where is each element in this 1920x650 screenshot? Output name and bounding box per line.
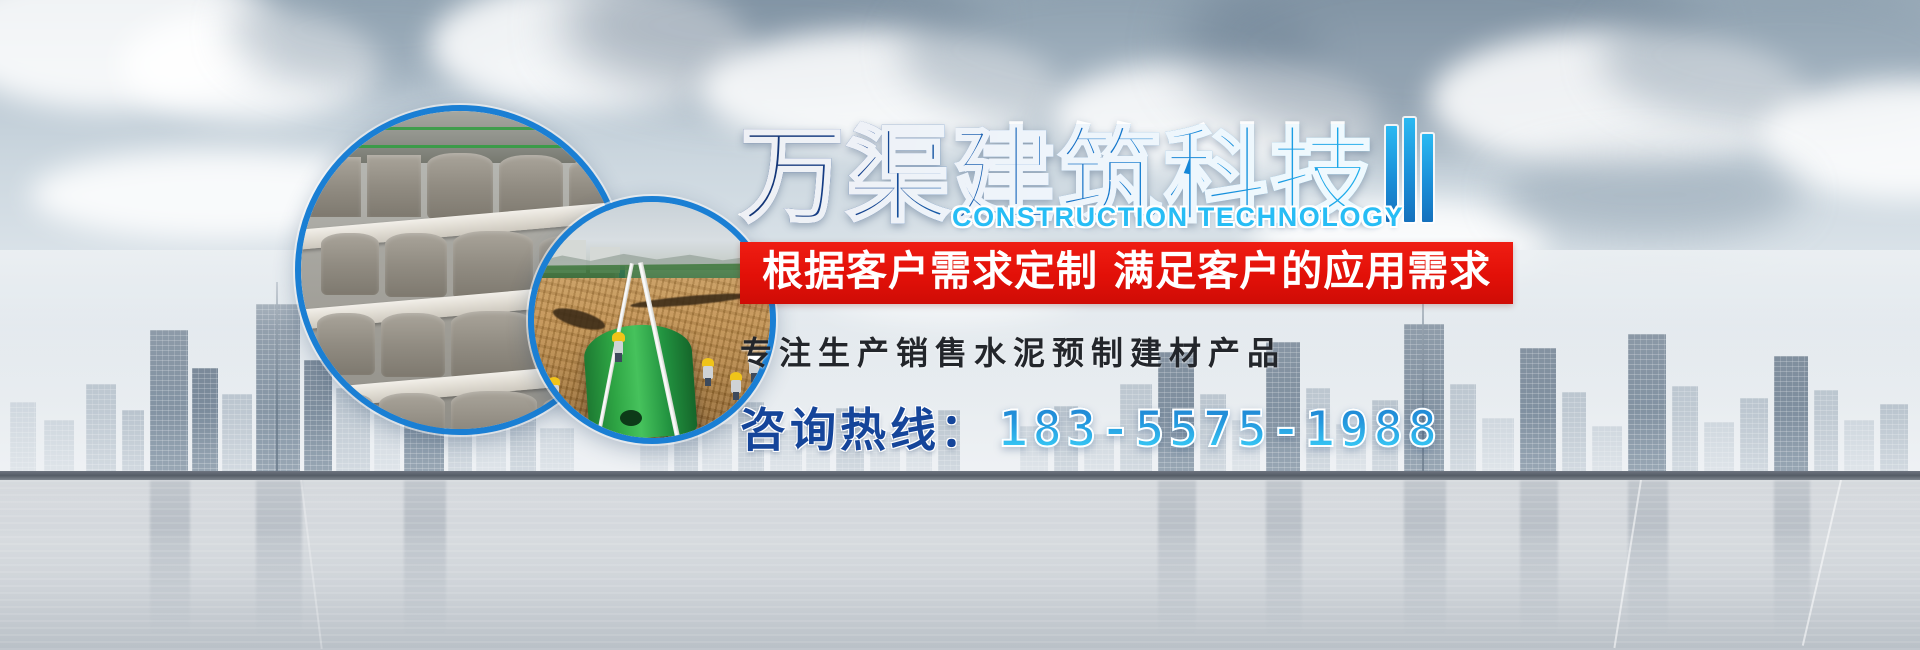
- hotline-label: 咨询热线：: [740, 394, 990, 460]
- brand-english-subtitle: CONSTRUCTION TECHNOLOGY: [952, 202, 1404, 233]
- red-slogan-text: 根据客户需求定制 满足客户的应用需求: [762, 247, 1491, 295]
- brand-title-row: 万渠建筑科技 CONSTRUCTION TECHNOLOGY: [740, 110, 1890, 228]
- brand-title-dark: 万渠: [740, 115, 952, 237]
- hotline-row: 咨询热线： 183-5575-1988: [740, 394, 1890, 460]
- hotline-number[interactable]: 183-5575-1988: [998, 400, 1441, 458]
- red-slogan-bar: 根据客户需求定制 满足客户的应用需求: [740, 242, 1513, 304]
- banner-text-block: 万渠建筑科技 CONSTRUCTION TECHNOLOGY 根据客户需求定制 …: [740, 110, 1890, 540]
- hero-banner: 万渠建筑科技 CONSTRUCTION TECHNOLOGY 根据客户需求定制 …: [0, 0, 1920, 650]
- photo-septic-tank-installation: [528, 196, 776, 444]
- secondary-slogan: 专注生产销售水泥预制建材产品: [740, 328, 1890, 374]
